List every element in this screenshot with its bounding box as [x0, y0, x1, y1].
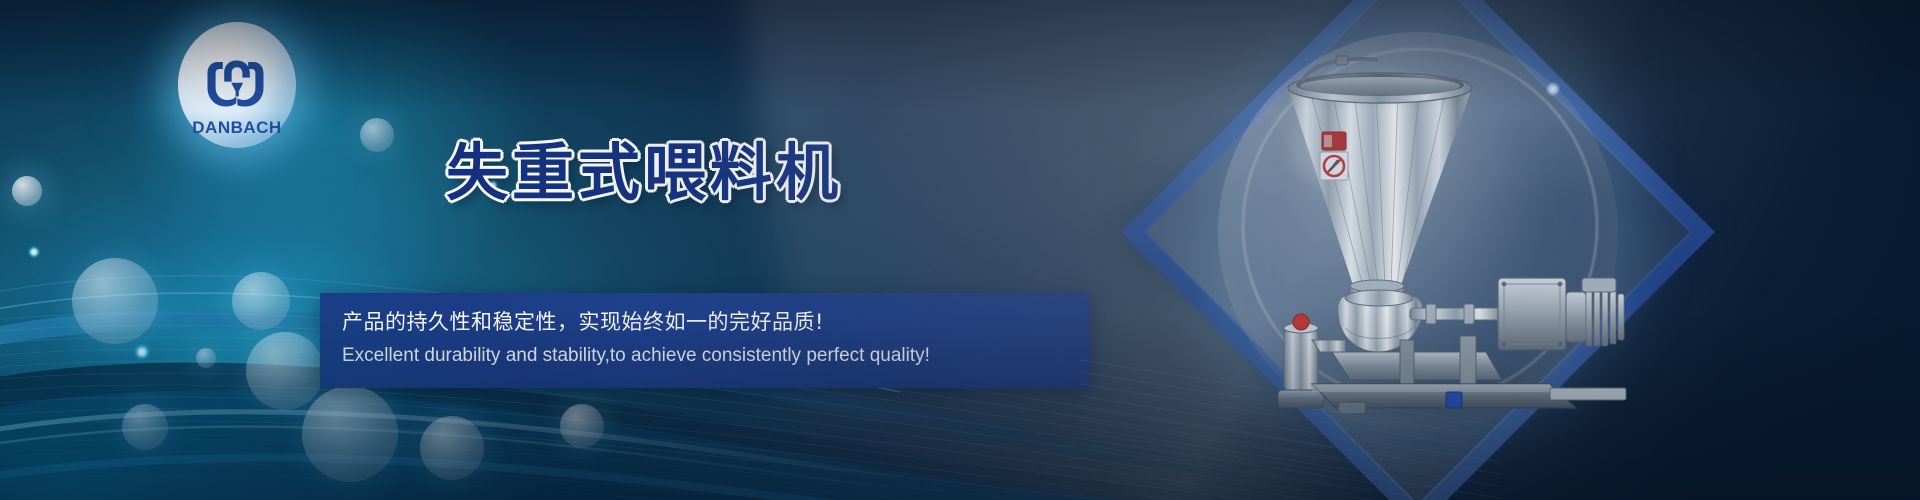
bubble-decoration [560, 404, 604, 448]
danbach-monogram-icon [206, 58, 268, 110]
bubble-decoration [360, 118, 394, 152]
brand-logo[interactable]: DANBACH [178, 22, 296, 148]
product-banner: DANBACH 失重式喂料机 产品的持久性和稳定性，实现始终如一的完好品质! E… [0, 0, 1920, 500]
bubble-decoration [12, 176, 42, 206]
hairline-stripes-right-decoration [1080, 340, 1500, 500]
sparkle-decoration [134, 344, 150, 360]
sparkle-decoration [28, 246, 40, 258]
bubble-decoration [420, 416, 484, 480]
brand-name: DANBACH [178, 118, 296, 138]
bubble-decoration [196, 348, 216, 368]
bubble-decoration [232, 272, 290, 330]
page-title: 失重式喂料机 [446, 122, 842, 212]
bubble-decoration [72, 258, 158, 344]
bubble-decoration [302, 386, 398, 482]
tagline-box: 产品的持久性和稳定性，实现始终如一的完好品质! Excellent durabi… [320, 293, 1090, 388]
tagline-chinese: 产品的持久性和稳定性，实现始终如一的完好品质! [342, 306, 824, 336]
tagline-english: Excellent durability and stability,to ac… [342, 345, 930, 367]
bubble-decoration [246, 332, 324, 410]
bubble-decoration [122, 404, 168, 450]
